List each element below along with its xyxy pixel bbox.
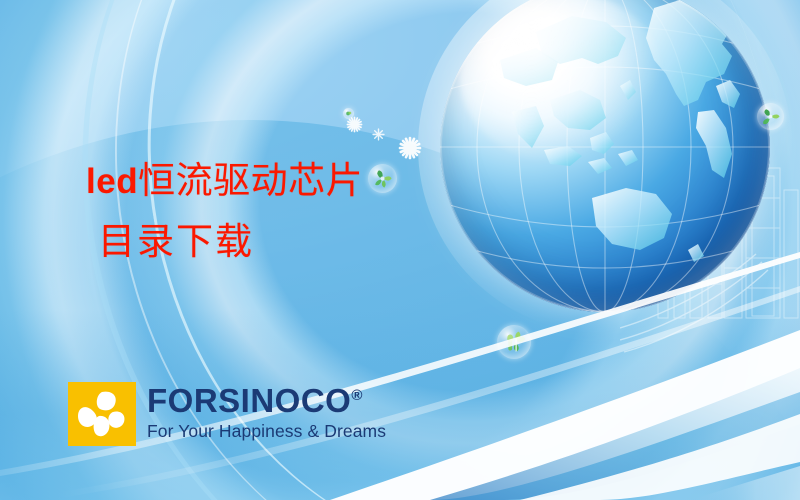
globe-sphere [440, 0, 770, 312]
poster-canvas: led恒流驱动芯片 目录下载 FORSINOCO® For Your Happi… [0, 0, 800, 500]
bubble-pinwheel-1 [343, 108, 354, 119]
earth-globe-graphic [440, 0, 770, 312]
headline-latin: led [86, 162, 138, 201]
bubble-windmill-3 [497, 325, 531, 359]
brand-text-block: FORSINOCO® For Your Happiness & Dreams [147, 382, 386, 441]
registered-mark-icon: ® [351, 387, 363, 404]
brand-name: FORSINOCO® [147, 384, 386, 417]
headline-cn: 恒流驱动芯片 [138, 161, 363, 202]
headline-line-1: led恒流驱动芯片 [86, 163, 363, 202]
headline-text: led恒流驱动芯片 目录下载 [86, 163, 363, 263]
headline-line-2: 目录下载 [98, 224, 363, 263]
brand-name-word: FORSINOCO [147, 382, 351, 419]
bubble-leaf-4 [757, 103, 784, 130]
brand-logo: FORSINOCO® For Your Happiness & Dreams [68, 382, 386, 446]
bubble-pinwheel-2 [368, 164, 397, 193]
pinwheel-petals-logo-icon [68, 382, 136, 446]
brand-tagline: For Your Happiness & Dreams [147, 423, 386, 441]
